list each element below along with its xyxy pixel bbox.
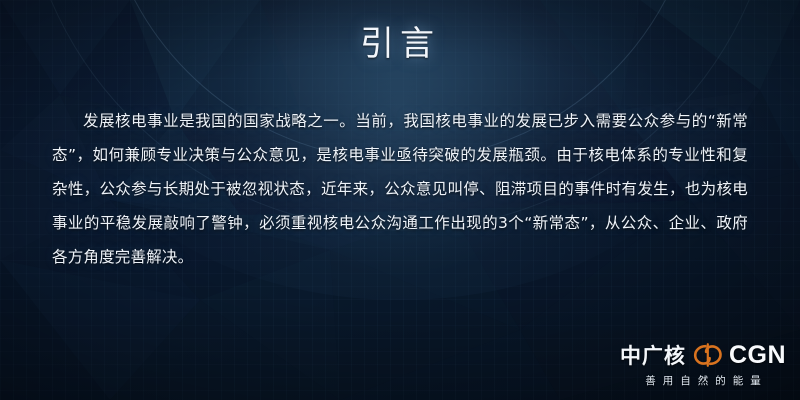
logo-english-name: CGN — [729, 341, 786, 370]
presentation-slide: 引言 发展核电事业是我国的国家战略之一。当前，我国核电事业的发展已步入需要公众参… — [0, 0, 800, 400]
logo-tagline: 善用自然的能量 — [620, 373, 786, 388]
logo-chinese-name: 中广核 — [620, 340, 686, 370]
cgn-logo: 中广核 CGN 善用自然的能量 — [620, 340, 786, 388]
slide-body-text: 发展核电事业是我国的国家战略之一。当前，我国核电事业的发展已步入需要公众参与的“… — [52, 104, 748, 274]
logo-wordmark-row: 中广核 CGN — [620, 340, 786, 370]
slide-title: 引言 — [0, 16, 800, 65]
slide-body-block: 发展核电事业是我国的国家战略之一。当前，我国核电事业的发展已步入需要公众参与的“… — [52, 104, 748, 274]
cgn-swirl-icon — [691, 342, 725, 368]
